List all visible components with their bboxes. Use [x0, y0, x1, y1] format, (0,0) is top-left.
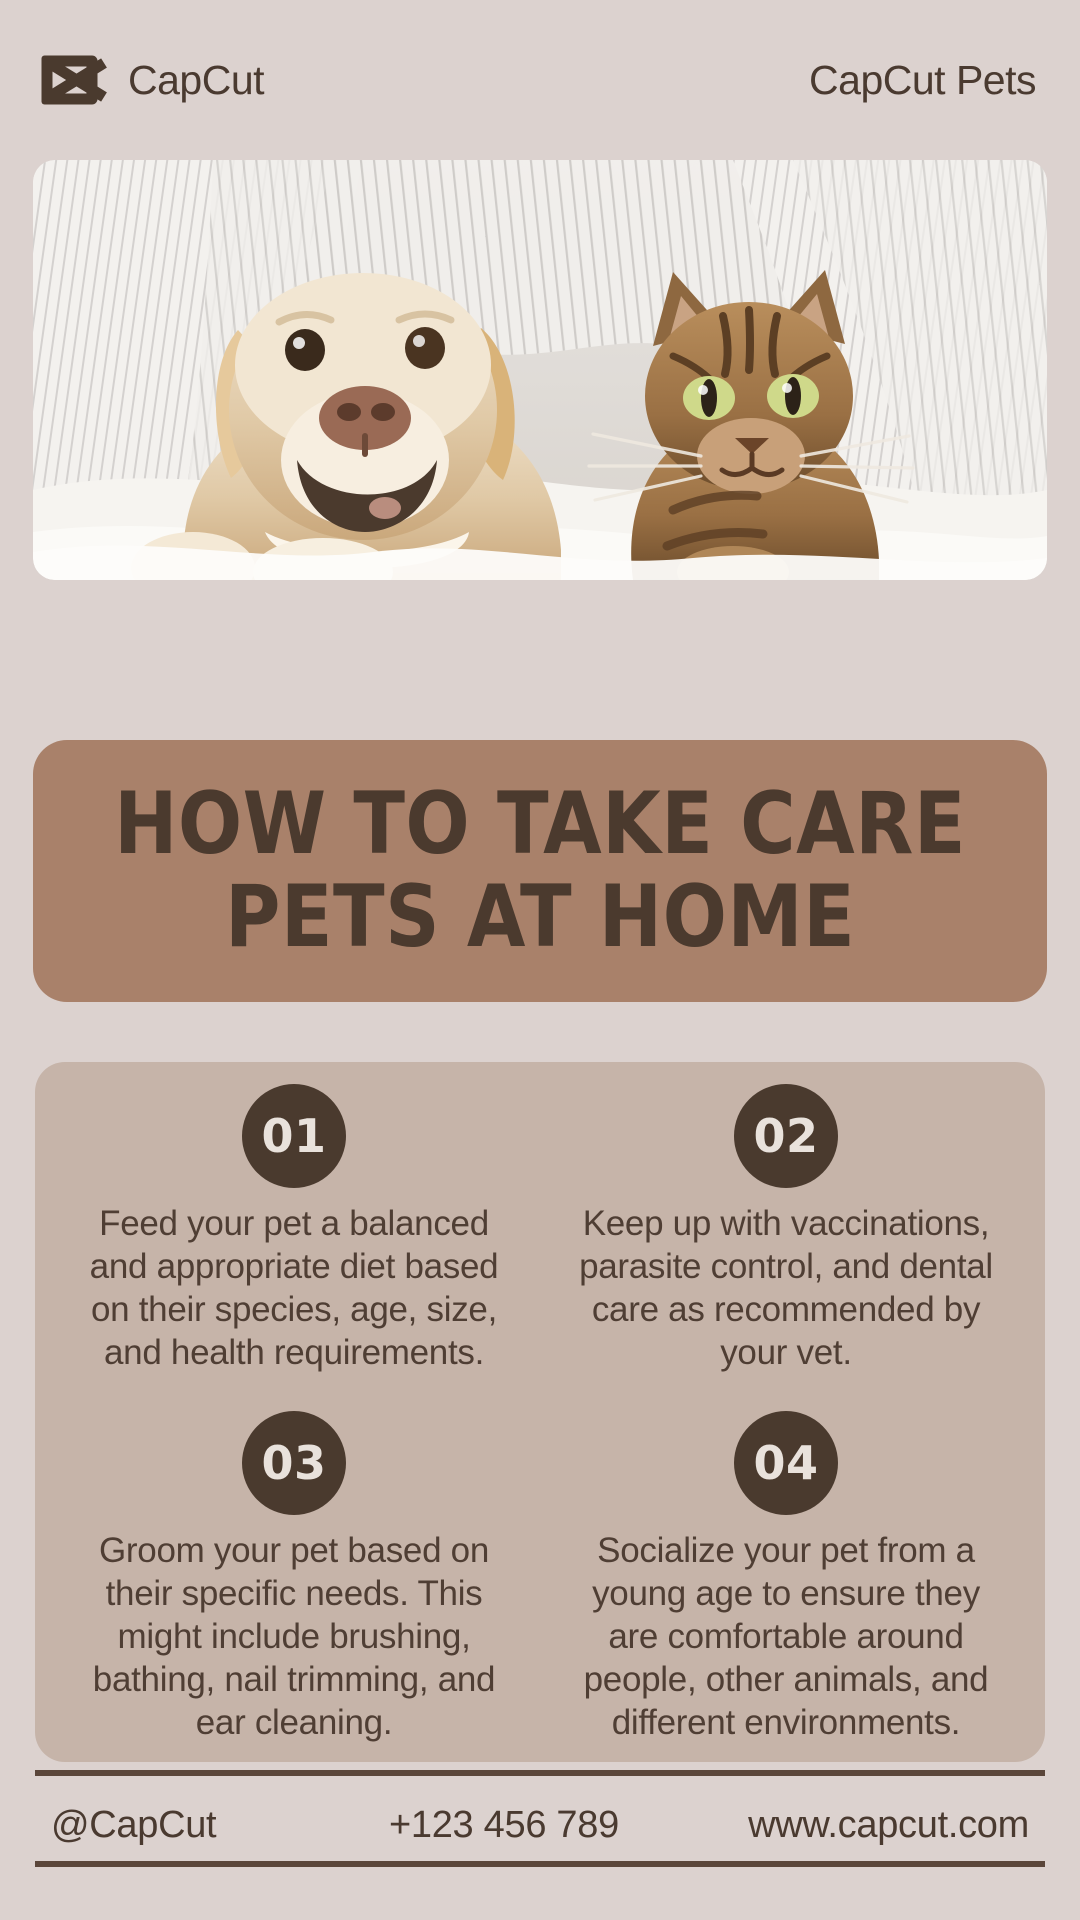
pet-photo-illustration — [33, 160, 1047, 580]
steps-card: 01 Feed your pet a balanced and appropri… — [35, 1062, 1045, 1762]
title-banner: HOW TO TAKE CARE PETS AT HOME — [33, 740, 1047, 1002]
step-number-badge: 04 — [734, 1411, 838, 1515]
brand-lockup: CapCut — [36, 50, 264, 110]
step-item-03: 03 Groom your pet based on their specifi… — [53, 1411, 535, 1744]
footer-divider-top — [35, 1770, 1045, 1776]
brand-name: CapCut — [128, 60, 264, 101]
title-line-1: HOW TO TAKE CARE — [114, 778, 966, 871]
infographic-page: CapCut CapCut Pets — [0, 0, 1080, 1920]
footer-bar: @CapCut +123 456 789 www.capcut.com — [35, 1790, 1045, 1860]
step-description: Socialize your pet from a young age to e… — [566, 1529, 1006, 1744]
header-bar: CapCut CapCut Pets — [0, 0, 1080, 160]
step-item-04: 04 Socialize your pet from a young age t… — [545, 1411, 1027, 1744]
footer-phone[interactable]: +123 456 789 — [371, 1804, 709, 1847]
step-number-badge: 03 — [242, 1411, 346, 1515]
step-item-01: 01 Feed your pet a balanced and appropri… — [53, 1084, 535, 1405]
step-item-02: 02 Keep up with vaccinations, parasite c… — [545, 1084, 1027, 1405]
capcut-logo-icon — [36, 50, 110, 110]
header-right-label: CapCut Pets — [809, 60, 1044, 101]
hero-photo — [33, 160, 1047, 580]
step-number-badge: 02 — [734, 1084, 838, 1188]
step-description: Keep up with vaccinations, parasite cont… — [560, 1202, 1012, 1374]
footer-website[interactable]: www.capcut.com — [709, 1804, 1045, 1847]
footer-handle[interactable]: @CapCut — [35, 1804, 371, 1847]
footer-divider-bottom — [35, 1861, 1045, 1867]
step-description: Feed your pet a balanced and appropriate… — [79, 1202, 509, 1374]
step-number-badge: 01 — [242, 1084, 346, 1188]
step-description: Groom your pet based on their specific n… — [79, 1529, 509, 1744]
title-line-2: PETS AT HOME — [225, 871, 855, 964]
